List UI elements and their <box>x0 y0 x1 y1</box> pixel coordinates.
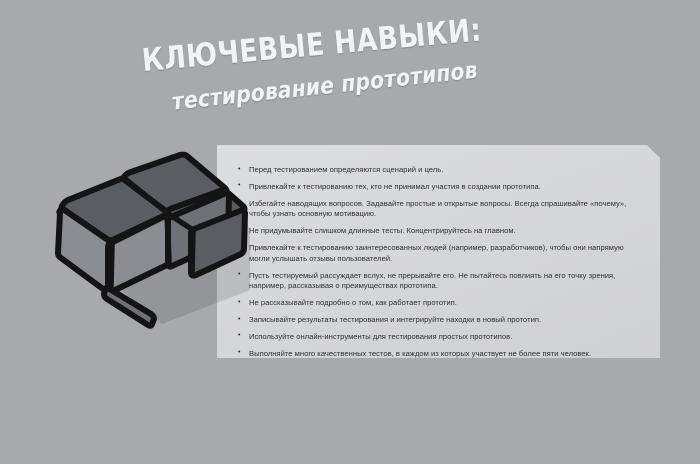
page-subtitle: тестирование прототипов <box>171 57 479 115</box>
list-item: Выполняйте много качественных тестов, в … <box>238 349 642 360</box>
list-item: Записывайте результаты тестирования и ин… <box>238 315 642 326</box>
content-panel: Перед тестированием определяются сценари… <box>217 145 660 358</box>
list-item: Используйте онлайн-инструменты для тести… <box>238 332 642 343</box>
list-item: Не придумывайте слишком длинные тесты. К… <box>238 226 642 237</box>
list-item: Не рассказывайте подробно о том, как раб… <box>238 298 642 309</box>
slide-heading: КЛЮЧЕВЫЕ НАВЫКИ: тестирование прототипов <box>0 30 700 140</box>
list-item: Пусть тестируемый рассуждает вслух, не п… <box>238 271 642 292</box>
key-skills-bullet-list: Перед тестированием определяются сценари… <box>238 165 642 366</box>
list-item: Избегайте наводящих вопросов. Задавайте … <box>238 199 642 220</box>
list-item: Перед тестированием определяются сценари… <box>238 165 642 176</box>
page-title: КЛЮЧЕВЫЕ НАВЫКИ: <box>140 11 483 79</box>
slide-canvas: КЛЮЧЕВЫЕ НАВЫКИ: тестирование прототипов… <box>0 0 700 464</box>
list-item: Привлекайте к тестированию тех, кто не п… <box>238 182 642 193</box>
list-item: Привлекайте к тестированию заинтересован… <box>238 243 642 264</box>
blocks-illustration <box>28 128 258 328</box>
